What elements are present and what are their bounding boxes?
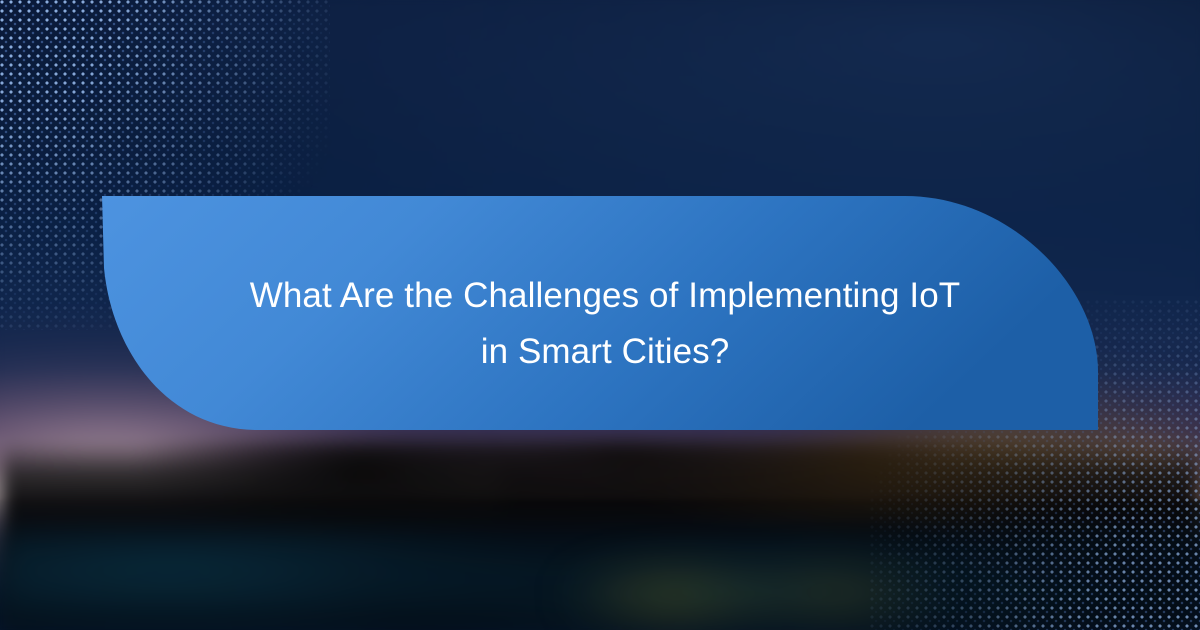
page-title: What Are the Challenges of Implementing … bbox=[150, 268, 1060, 380]
title-card: What Are the Challenges of Implementing … bbox=[0, 0, 1200, 630]
page-title-line-1: What Are the Challenges of Implementing … bbox=[150, 268, 1060, 324]
page-title-line-2: in Smart Cities? bbox=[150, 324, 1060, 380]
